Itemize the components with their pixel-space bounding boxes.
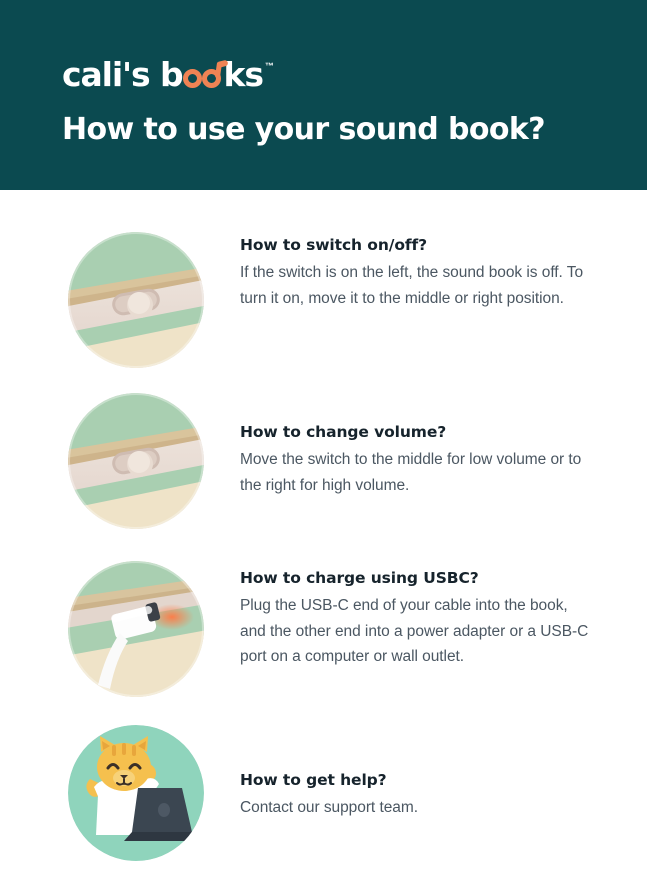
illustration-cat-with-laptop	[68, 725, 204, 861]
instruction-body: Contact our support team.	[240, 795, 418, 821]
instruction-text-block: How to change volume? Move the switch to…	[240, 393, 590, 498]
brand-logo: cali's b ks ™	[62, 58, 274, 98]
switch-photo-graphic	[68, 232, 204, 368]
volume-switch-photo-graphic	[68, 393, 204, 529]
instruction-body: If the switch is on the left, the sound …	[240, 260, 590, 311]
page-header: cali's b ks ™ How to use your sound book…	[0, 0, 647, 190]
logo-music-note-icon	[183, 58, 224, 92]
cat-laptop-illustration	[68, 725, 204, 861]
photo-switch-volume-position	[68, 393, 204, 529]
logo-text-part2: ks	[224, 58, 263, 92]
logo-note-stem	[214, 62, 221, 79]
instruction-text-block: How to charge using USBC? Plug the USB-C…	[240, 561, 590, 670]
photo-switch-left-position	[68, 232, 204, 368]
instruction-section-get-help: How to get help? Contact our support tea…	[0, 725, 647, 861]
instruction-title: How to charge using USBC?	[240, 567, 590, 589]
instruction-title: How to get help?	[240, 769, 418, 791]
instruction-text-block: How to switch on/off? If the switch is o…	[240, 232, 590, 311]
instruction-body: Plug the USB-C end of your cable into th…	[240, 593, 590, 670]
instruction-title: How to change volume?	[240, 421, 590, 443]
logo-text-part1: cali's b	[62, 58, 183, 92]
instruction-section-change-volume: How to change volume? Move the switch to…	[0, 393, 647, 529]
instruction-text-block: How to get help? Contact our support tea…	[240, 725, 418, 821]
instruction-body: Move the switch to the middle for low vo…	[240, 447, 590, 498]
usbc-photo-graphic	[68, 561, 204, 697]
logo-letter-o-first	[183, 69, 202, 88]
instruction-section-switch-onoff: How to switch on/off? If the switch is o…	[0, 232, 647, 368]
instructions-list: How to switch on/off? If the switch is o…	[0, 190, 647, 861]
instruction-title: How to switch on/off?	[240, 234, 590, 256]
trademark-symbol: ™	[265, 61, 274, 71]
page-title: How to use your sound book?	[62, 112, 545, 147]
photo-usbc-cable-plugged	[68, 561, 204, 697]
instruction-section-charge-usbc: How to charge using USBC? Plug the USB-C…	[0, 561, 647, 697]
